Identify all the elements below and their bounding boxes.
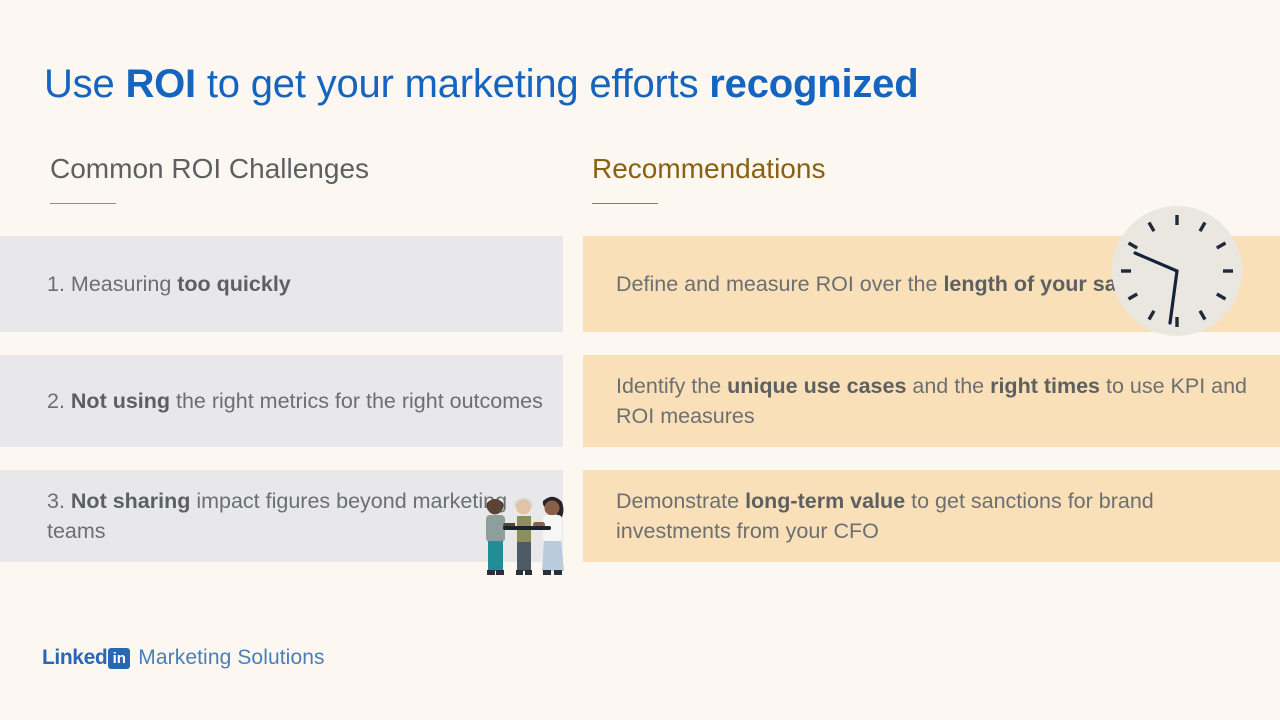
column-heading-rule-right [592, 203, 658, 204]
challenge-row-2: 2. Not using the right metrics for the r… [0, 355, 563, 447]
recommendation-row-2: Identify the unique use cases and the ri… [583, 355, 1280, 447]
linkedin-marketing-solutions-logo: Linked in Marketing Solutions [42, 645, 325, 671]
challenge-pre-1: Measuring [71, 272, 177, 296]
challenge-post-2: the right metrics for the right outcomes [170, 389, 543, 413]
recommendation-bold-2a: unique use cases [727, 374, 906, 398]
recommendation-bold-3: long-term value [745, 489, 905, 513]
challenge-bold-2: Not using [71, 389, 170, 413]
column-heading-challenges: Common ROI Challenges [50, 152, 369, 186]
recommendation-mid-2: and the [906, 374, 990, 398]
challenge-text-2: 2. Not using the right metrics for the r… [47, 386, 543, 416]
title-bold-recognized: recognized [709, 62, 918, 106]
person-right [533, 497, 564, 575]
recommendation-text-2: Identify the unique use cases and the ri… [616, 371, 1254, 431]
recommendation-row-3: Demonstrate long-term value to get sanct… [583, 470, 1280, 562]
challenge-number-1: 1. [47, 272, 71, 296]
challenge-number-2: 2. [47, 389, 71, 413]
title-bold-roi: ROI [125, 62, 196, 106]
person-middle [515, 498, 533, 575]
page-title: Use ROI to get your marketing efforts re… [44, 58, 918, 110]
three-people-icon [479, 486, 577, 580]
challenge-number-3: 3. [47, 489, 71, 513]
linkedin-in-icon: in [108, 648, 130, 669]
title-part-2: to get your marketing efforts [196, 62, 709, 106]
challenge-row-1: 1. Measuring too quickly [0, 236, 563, 332]
logo-linked-text: Linked [42, 645, 107, 671]
clock-icon [1112, 206, 1242, 336]
challenge-bold-3: Not sharing [71, 489, 190, 513]
slide-canvas: Use ROI to get your marketing efforts re… [0, 0, 1280, 720]
recommendation-text-3: Demonstrate long-term value to get sanct… [616, 486, 1254, 546]
recommendation-pre-3: Demonstrate [616, 489, 745, 513]
recommendation-pre-1: Define and measure ROI over the [616, 272, 943, 296]
column-heading-recommendations: Recommendations [592, 152, 825, 186]
logo-marketing-solutions-text: Marketing Solutions [138, 645, 324, 671]
recommendation-pre-2: Identify the [616, 374, 727, 398]
challenge-bold-1: too quickly [177, 272, 290, 296]
title-part-1: Use [44, 62, 125, 106]
recommendation-bold-2b: right times [990, 374, 1100, 398]
challenge-text-3: 3. Not sharing impact figures beyond mar… [47, 486, 543, 546]
person-left [486, 499, 517, 575]
column-heading-rule-left [50, 203, 116, 204]
challenge-text-1: 1. Measuring too quickly [47, 269, 291, 299]
